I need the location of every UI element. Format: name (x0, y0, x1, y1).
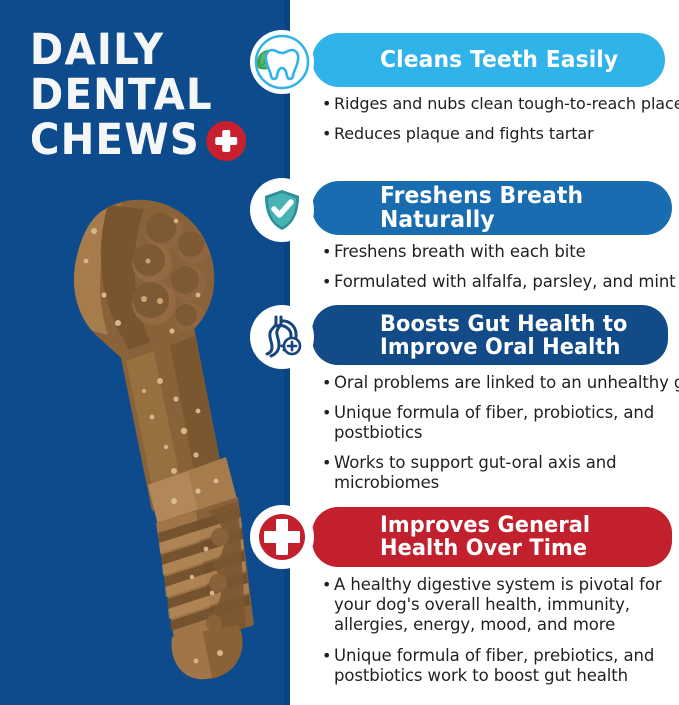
list-item: Oral problems are linked to an unhealthy… (322, 373, 679, 393)
medical-cross-icon (250, 505, 314, 569)
list-item: Freshens breath with each bite (322, 242, 679, 262)
benefit-bullets-3: Oral problems are linked to an unhealthy… (322, 373, 679, 503)
infographic-poster: DAILY DENTAL CHEWS (0, 0, 679, 705)
title-line-3: CHEWS (30, 118, 200, 163)
list-item: Unique formula of fiber, probiotics, and… (322, 403, 679, 443)
title-line-1: DAILY (30, 28, 253, 73)
benefit-headline-2: Freshens Breath Naturally (380, 184, 633, 232)
list-item: Works to support gut-oral axis and micro… (322, 453, 679, 493)
benefit-bullets-1: Ridges and nubs clean tough-to-reach pla… (322, 94, 679, 154)
list-item: Reduces plaque and fights tartar (322, 124, 679, 144)
shield-check-icon (250, 178, 314, 242)
title-line-3-row: CHEWS (30, 118, 253, 163)
benefit-headline-4-line2: Health Over Time (380, 536, 587, 561)
benefit-headline-pill-4: Improves General Health Over Time (312, 507, 672, 567)
stomach-plus-icon (250, 305, 314, 369)
benefit-headline-4-line1: Improves General (380, 513, 590, 538)
dental-chew-illustration (48, 185, 258, 685)
benefit-headline-3-line1: Boosts Gut Health to (380, 312, 627, 337)
list-item: Ridges and nubs clean tough-to-reach pla… (322, 94, 679, 114)
benefit-bullets-4: A healthy digestive system is pivotal fo… (322, 575, 672, 697)
benefit-headline-pill-3: Boosts Gut Health to Improve Oral Health (312, 305, 668, 365)
page-title: DAILY DENTAL CHEWS (30, 28, 270, 163)
benefit-headline-3: Boosts Gut Health to Improve Oral Health (380, 313, 627, 359)
list-item: Formulated with alfalfa, parsley, and mi… (322, 272, 679, 292)
medical-cross-icon (206, 121, 246, 161)
title-line-2: DENTAL (30, 73, 253, 118)
benefit-headline-pill-2: Freshens Breath Naturally (312, 181, 672, 235)
benefit-bullets-2: Freshens breath with each bite Formulate… (322, 242, 679, 302)
list-item: A healthy digestive system is pivotal fo… (322, 575, 672, 635)
list-item: Unique formula of fiber, prebiotics, and… (322, 646, 672, 686)
benefit-headline-4: Improves General Health Over Time (380, 514, 590, 560)
benefit-headline-pill-1: Cleans Teeth Easily (312, 33, 665, 87)
benefit-headline-3-line2: Improve Oral Health (380, 335, 620, 360)
benefit-headline-1: Cleans Teeth Easily (380, 48, 618, 72)
